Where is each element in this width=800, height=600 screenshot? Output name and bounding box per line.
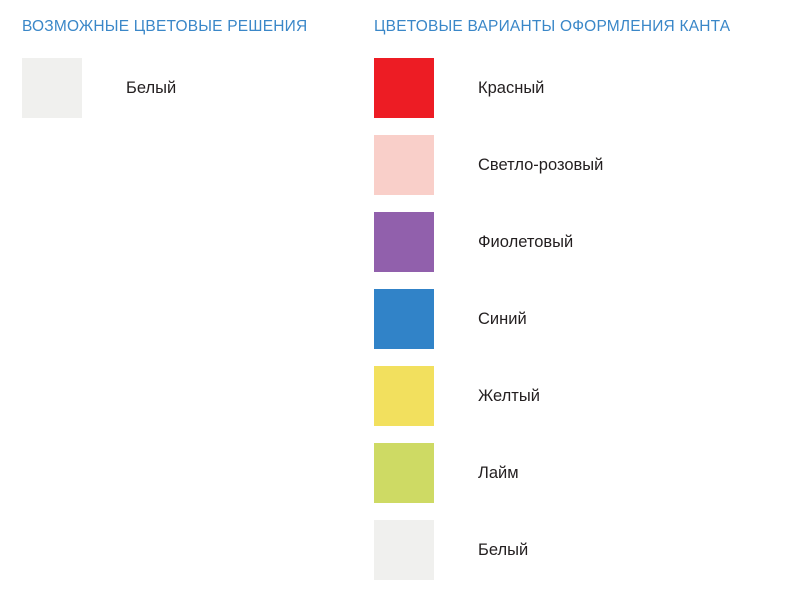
color-label: Желтый — [478, 366, 540, 426]
color-chip-blue[interactable] — [374, 289, 434, 349]
swatch-row[interactable]: Фиолетовый — [374, 212, 794, 272]
color-label: Фиолетовый — [478, 212, 573, 272]
color-chip-white[interactable] — [22, 58, 82, 118]
column-title-piping-color-options: ЦВЕТОВЫЕ ВАРИАНТЫ ОФОРМЛЕНИЯ КАНТА — [374, 18, 730, 36]
color-label: Светло-розовый — [478, 135, 603, 195]
column-title-possible-color-solutions: ВОЗМОЖНЫЕ ЦВЕТОВЫЕ РЕШЕНИЯ — [22, 18, 307, 36]
swatch-row[interactable]: Синий — [374, 289, 794, 349]
color-label: Белый — [478, 520, 528, 580]
swatch-row[interactable]: Белый — [374, 520, 794, 580]
color-label: Синий — [478, 289, 527, 349]
color-chip-white[interactable] — [374, 520, 434, 580]
color-chip-red[interactable] — [374, 58, 434, 118]
swatch-row[interactable]: Желтый — [374, 366, 794, 426]
color-label: Белый — [126, 58, 176, 118]
color-chip-lime[interactable] — [374, 443, 434, 503]
color-chip-light-pink[interactable] — [374, 135, 434, 195]
color-legend-board: ВОЗМОЖНЫЕ ЦВЕТОВЫЕ РЕШЕНИЯ Белый ЦВЕТОВЫ… — [0, 0, 800, 600]
color-chip-yellow[interactable] — [374, 366, 434, 426]
color-label: Красный — [478, 58, 544, 118]
swatch-list-piping-color-options: Красный Светло-розовый Фиолетовый Синий … — [374, 58, 794, 597]
swatch-row[interactable]: Белый — [22, 58, 362, 118]
swatch-row[interactable]: Светло-розовый — [374, 135, 794, 195]
swatch-row[interactable]: Красный — [374, 58, 794, 118]
swatch-row[interactable]: Лайм — [374, 443, 794, 503]
color-label: Лайм — [478, 443, 519, 503]
color-chip-violet[interactable] — [374, 212, 434, 272]
swatch-list-possible-color-solutions: Белый — [22, 58, 362, 135]
